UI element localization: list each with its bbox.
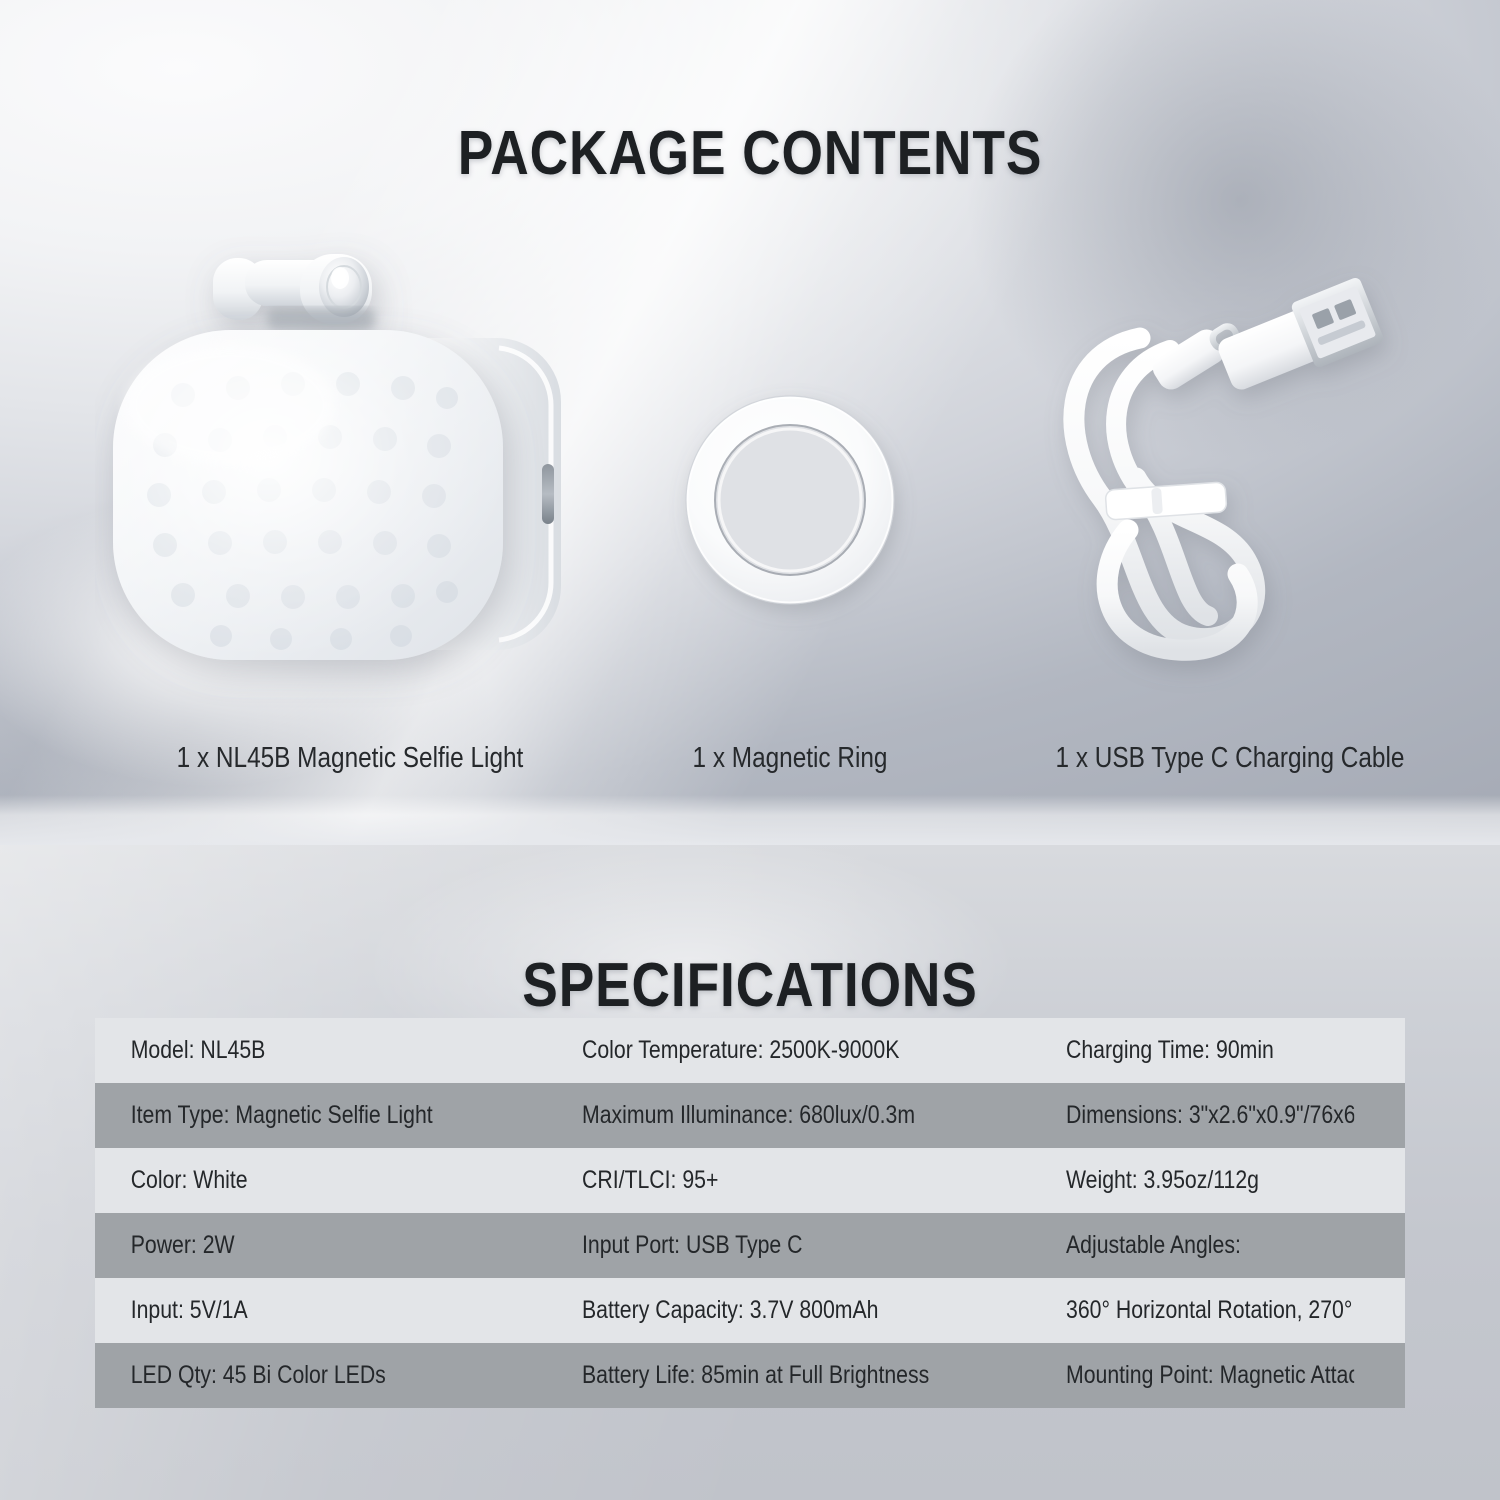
product-infographic-page: PACKAGE CONTENTS: [0, 0, 1500, 1500]
table-row: Power: 2W Input Port: USB Type C Adjusta…: [95, 1213, 1405, 1278]
spec-cell: Mounting Point: Magnetic Attachment: [1066, 1361, 1354, 1390]
usb-a-connector: [1212, 276, 1385, 400]
spec-cell: Color Temperature: 2500K-9000K: [582, 1036, 993, 1065]
spec-cell: 360° Horizontal Rotation, 270° Vertical …: [1066, 1296, 1354, 1325]
spec-cell: CRI/TLCI: 95+: [582, 1166, 993, 1195]
cable-coil-group: [1074, 276, 1385, 650]
spec-cell: Charging Time: 90min: [1066, 1036, 1354, 1065]
spec-cell: Model: NL45B: [95, 1036, 509, 1065]
usb-c-port-icon: [542, 464, 554, 524]
table-row: LED Qty: 45 Bi Color LEDs Battery Life: …: [95, 1343, 1405, 1408]
spec-cell: Color: White: [95, 1166, 509, 1195]
hinge-arm-group: [213, 254, 375, 330]
product-image-usb-cable: [1010, 230, 1450, 710]
specifications-table: Model: NL45B Color Temperature: 2500K-90…: [95, 1018, 1405, 1408]
velcro-tie: [1105, 482, 1227, 520]
spec-cell: Power: 2W: [95, 1231, 509, 1260]
product-caption-usb-cable: 1 x USB Type C Charging Cable: [1045, 742, 1415, 775]
spec-cell: Battery Life: 85min at Full Brightness: [582, 1361, 993, 1390]
page-title-specifications: SPECIFICATIONS: [105, 950, 1395, 1021]
table-row: Item Type: Magnetic Selfie Light Maximum…: [95, 1083, 1405, 1148]
spec-cell: Maximum Illuminance: 680lux/0.3m: [582, 1101, 993, 1130]
product-gallery: [0, 230, 1500, 730]
product-caption-magnetic-ring: 1 x Magnetic Ring: [664, 742, 916, 775]
led-diffuser-panel: [113, 330, 503, 660]
product-image-selfie-light: [95, 230, 605, 710]
spec-cell: Weight: 3.95oz/112g: [1066, 1166, 1354, 1195]
spec-cell: Input Port: USB Type C: [582, 1231, 993, 1260]
spec-cell: Input: 5V/1A: [95, 1296, 509, 1325]
product-caption-selfie-light: 1 x NL45B Magnetic Selfie Light: [136, 742, 564, 775]
spec-cell: Battery Capacity: 3.7V 800mAh: [582, 1296, 993, 1325]
table-row: Model: NL45B Color Temperature: 2500K-90…: [95, 1018, 1405, 1083]
backdrop-floor-line: [0, 795, 1500, 845]
spec-cell: LED Qty: 45 Bi Color LEDs: [95, 1361, 509, 1390]
table-row: Color: White CRI/TLCI: 95+ Weight: 3.95o…: [95, 1148, 1405, 1213]
page-title-package-contents: PACKAGE CONTENTS: [105, 118, 1395, 189]
spec-cell: Dimensions: 3"x2.6"x0.9"/76x65x23mm: [1066, 1101, 1354, 1130]
table-row: Input: 5V/1A Battery Capacity: 3.7V 800m…: [95, 1278, 1405, 1343]
spec-cell: Adjustable Angles:: [1066, 1231, 1354, 1260]
magnetic-ring-shape: [686, 396, 894, 604]
spec-cell: Item Type: Magnetic Selfie Light: [95, 1101, 509, 1130]
product-image-magnetic-ring: [640, 230, 940, 710]
